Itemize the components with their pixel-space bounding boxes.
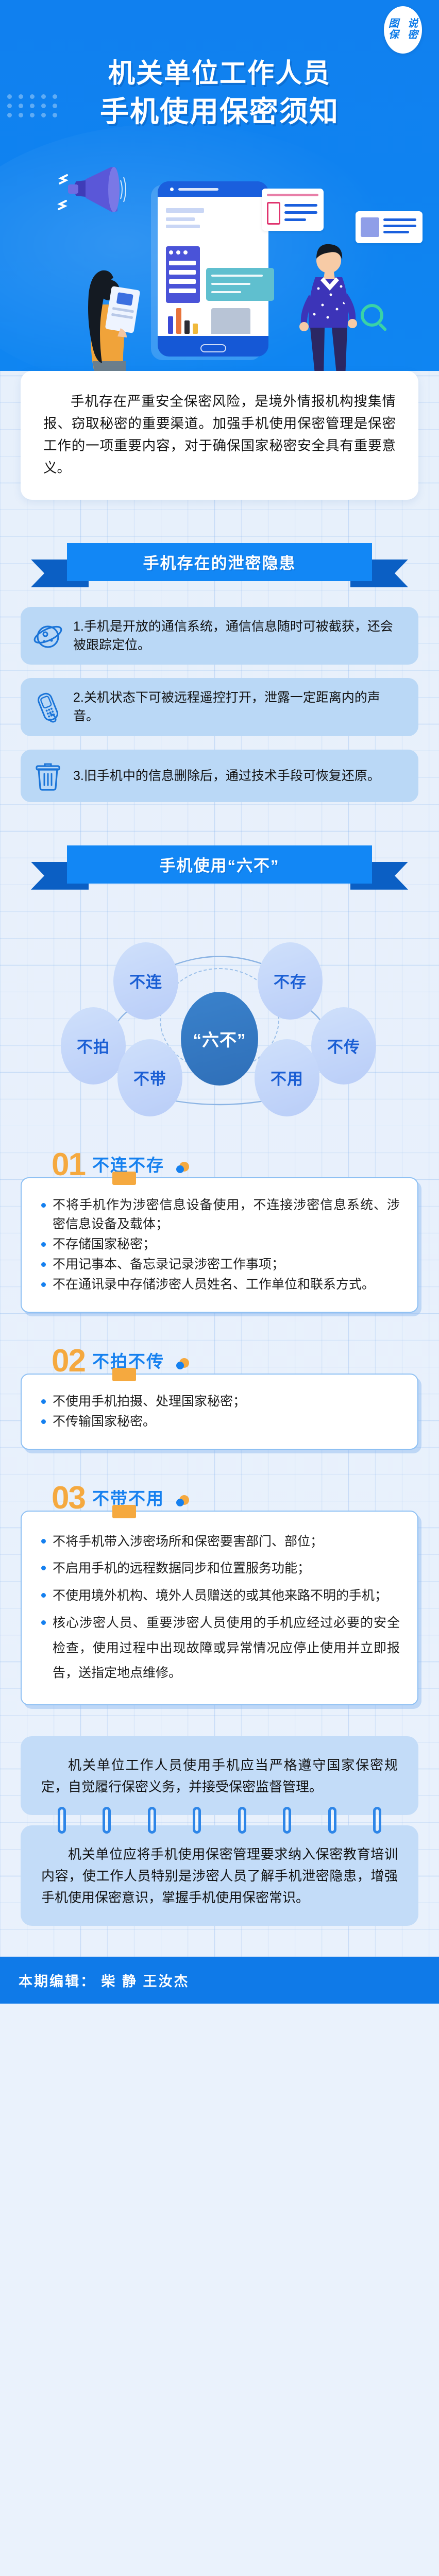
closing-card-2: 机关单位应将手机使用保密管理要求纳入保密教育培训内容，使工作人员特别是涉密人员了… bbox=[21, 1825, 418, 1926]
trash-bin-icon bbox=[32, 760, 64, 792]
infographic-page: 图 说 保 密 机关单位工作人员 手机使用保密须知 bbox=[0, 0, 439, 2004]
title-line-1: 机关单位工作人员 bbox=[0, 57, 439, 91]
magnifying-glass-icon bbox=[361, 304, 383, 327]
card-tab-marker bbox=[112, 1172, 136, 1185]
node-label: 不传 bbox=[327, 1034, 360, 1057]
ring bbox=[148, 1807, 156, 1834]
ring bbox=[283, 1807, 291, 1834]
section-heading: 01 不连不存 bbox=[21, 1143, 418, 1179]
title-line-2: 手机使用保密须知 bbox=[0, 93, 439, 131]
risk-item: 1.手机是开放的通信系统，通信信息随时可被截获，还会被跟踪定位。 bbox=[21, 607, 418, 665]
phone-status-bar bbox=[158, 181, 268, 197]
closing-section: 机关单位工作人员使用手机应当严格遵守国家保密规定，自觉履行保密义务，并接受保密监… bbox=[21, 1736, 418, 1926]
decorative-dots-icon bbox=[172, 1358, 189, 1371]
tushuo-baomi-stamp: 图 说 保 密 bbox=[384, 6, 422, 54]
chat-bubble-card bbox=[262, 189, 324, 231]
phone-screen bbox=[158, 197, 268, 336]
list-item: 不将手机带入涉密场所和保密要害部门、部位； bbox=[39, 1529, 400, 1554]
card-tab-marker bbox=[112, 1368, 136, 1381]
node-label: 不存 bbox=[274, 969, 307, 992]
ribbon-plate: 手机存在的泄密隐患 bbox=[67, 543, 372, 581]
stamp-char-4: 密 bbox=[403, 30, 422, 41]
risk-item: 3.旧手机中的信息删除后，通过技术手段可恢复还原。 bbox=[21, 750, 418, 802]
page-title: 机关单位工作人员 手机使用保密须知 bbox=[0, 57, 439, 130]
risk-list: 1.手机是开放的通信系统，通信信息随时可被截获，还会被跟踪定位。 bbox=[21, 607, 418, 802]
ribbon-plate: 手机使用“六不” bbox=[67, 845, 372, 884]
bullet-list: 不使用手机拍摄、处理国家秘密； 不传输国家秘密。 bbox=[39, 1392, 400, 1431]
remote-control-icon bbox=[32, 691, 64, 723]
six-no-node-4: 不传 bbox=[311, 1007, 376, 1084]
ribbon-label: 手机使用“六不” bbox=[160, 853, 280, 876]
six-no-node-2: 不存 bbox=[258, 942, 323, 1020]
intro-text: 手机存在严重安全保密风险，是境外情报机构搜集情报、窃取秘密的重要渠道。加强手机使… bbox=[43, 391, 396, 479]
stamp-char-3: 保 bbox=[384, 30, 403, 41]
hero-illustration bbox=[0, 149, 439, 392]
section-number: 02 bbox=[52, 1347, 85, 1376]
six-no-node-1: 不连 bbox=[113, 942, 178, 1020]
list-item: 不使用手机拍摄、处理国家秘密； bbox=[39, 1392, 400, 1411]
section-heading: 03 不带不用 bbox=[21, 1477, 418, 1513]
ring bbox=[193, 1807, 201, 1834]
node-label: 不用 bbox=[271, 1066, 303, 1089]
editor-credits: 本期编辑： 柴 静 王汝杰 bbox=[19, 1974, 190, 1989]
numbered-section-02: 02 不拍不传 不使用手机拍摄、处理国家秘密； 不传输国家秘密。 bbox=[21, 1340, 418, 1450]
bullet-list: 不将手机带入涉密场所和保密要害部门、部位； 不启用手机的远程数据同步和位置服务功… bbox=[39, 1529, 400, 1686]
list-item: 不启用手机的远程数据同步和位置服务功能； bbox=[39, 1556, 400, 1581]
six-no-diagram: 不连 不存 不拍 不传 不带 不用 “六不” bbox=[21, 910, 418, 1116]
section-card: 不使用手机拍摄、处理国家秘密； 不传输国家秘密。 bbox=[21, 1374, 418, 1450]
six-no-node-3: 不拍 bbox=[61, 1007, 126, 1084]
card-tab-marker bbox=[112, 1505, 136, 1518]
section-card: 不将手机作为涉密信息设备使用，不连接涉密信息系统、涉密信息设备及载体； 不存储国… bbox=[21, 1177, 418, 1313]
ribbon-label: 手机存在的泄密隐患 bbox=[143, 550, 296, 573]
ring bbox=[373, 1807, 381, 1834]
bullet-list: 不将手机作为涉密信息设备使用，不连接涉密信息系统、涉密信息设备及载体； 不存储国… bbox=[39, 1196, 400, 1294]
section-number: 03 bbox=[52, 1484, 85, 1513]
megaphone-icon bbox=[56, 160, 133, 222]
six-no-node-6: 不用 bbox=[255, 1039, 319, 1116]
closing-card-1: 机关单位工作人员使用手机应当严格遵守国家保密规定，自觉履行保密义务，并接受保密监… bbox=[21, 1736, 418, 1815]
man-illustration bbox=[294, 237, 366, 392]
node-label: 不连 bbox=[129, 969, 162, 992]
list-item: 不传输国家秘密。 bbox=[39, 1412, 400, 1431]
ring bbox=[328, 1807, 336, 1834]
section-banner-risks: 手机存在的泄密隐患 bbox=[21, 540, 418, 587]
hero-banner: 图 说 保 密 机关单位工作人员 手机使用保密须知 bbox=[0, 0, 439, 422]
stamp-char-1: 图 bbox=[384, 19, 403, 30]
ring bbox=[103, 1807, 111, 1834]
risk-text: 1.手机是开放的通信系统，通信信息随时可被截获，还会被跟踪定位。 bbox=[73, 617, 405, 655]
closing-text-2: 机关单位应将手机使用保密管理要求纳入保密教育培训内容，使工作人员特别是涉密人员了… bbox=[41, 1844, 398, 1908]
numbered-section-01: 01 不连不存 不将手机作为涉密信息设备使用，不连接涉密信息系统、涉密信息设备及… bbox=[21, 1143, 418, 1313]
node-label: 不拍 bbox=[77, 1034, 110, 1057]
intro-card: 手机存在严重安全保密风险，是境外情报机构搜集情报、窃取秘密的重要渠道。加强手机使… bbox=[21, 371, 418, 500]
ring bbox=[238, 1807, 246, 1834]
center-label: “六不” bbox=[193, 1026, 246, 1051]
phone-home-button bbox=[200, 344, 226, 352]
numbered-section-03: 03 不带不用 不将手机带入涉密场所和保密要害部门、部位； 不启用手机的远程数据… bbox=[21, 1477, 418, 1706]
stamp-char-2: 说 bbox=[403, 19, 422, 30]
satellite-orbit-icon bbox=[32, 620, 64, 652]
decorative-dots-icon bbox=[172, 1495, 189, 1509]
list-item: 核心涉密人员、重要涉密人员使用的手机应经过必要的安全检查，使用过程中出现故障或异… bbox=[39, 1611, 400, 1686]
section-card: 不将手机带入涉密场所和保密要害部门、部位； 不启用手机的远程数据同步和位置服务功… bbox=[21, 1511, 418, 1706]
footer-credits-bar: 本期编辑： 柴 静 王汝杰 bbox=[0, 1957, 439, 2004]
teal-message-card bbox=[206, 268, 274, 301]
risk-text: 2.关机状态下可被远程遥控打开，泄露一定距离内的声音。 bbox=[73, 688, 405, 726]
section-heading: 02 不拍不传 bbox=[21, 1340, 418, 1376]
list-item: 不使用境外机构、境外人员赠送的或其他来路不明的手机； bbox=[39, 1583, 400, 1608]
ring bbox=[58, 1807, 66, 1834]
six-no-center: “六不” bbox=[181, 992, 258, 1086]
section-number: 01 bbox=[52, 1151, 85, 1179]
node-label: 不带 bbox=[133, 1066, 166, 1089]
notebook-ring-binding bbox=[21, 1806, 418, 1835]
decorative-dots-icon bbox=[172, 1162, 189, 1175]
list-item: 不存储国家秘密； bbox=[39, 1235, 400, 1254]
closing-text-1: 机关单位工作人员使用手机应当严格遵守国家保密规定，自觉履行保密义务，并接受保密监… bbox=[41, 1755, 398, 1798]
risk-text: 3.旧手机中的信息删除后，通过技术手段可恢复还原。 bbox=[73, 767, 380, 785]
list-item: 不用记事本、备忘录记录涉密工作事项； bbox=[39, 1255, 400, 1274]
list-item: 不将手机作为涉密信息设备使用，不连接涉密信息系统、涉密信息设备及载体； bbox=[39, 1196, 400, 1234]
content-area: 手机存在严重安全保密风险，是境外情报机构搜集情报、窃取秘密的重要渠道。加强手机使… bbox=[0, 371, 439, 1957]
six-no-node-5: 不带 bbox=[117, 1039, 182, 1116]
section-banner-six-no: 手机使用“六不” bbox=[21, 842, 418, 890]
risk-item: 2.关机状态下可被远程遥控打开，泄露一定距离内的声音。 bbox=[21, 678, 418, 736]
list-item: 不在通讯录中存储涉密人员姓名、工作单位和联系方式。 bbox=[39, 1275, 400, 1294]
